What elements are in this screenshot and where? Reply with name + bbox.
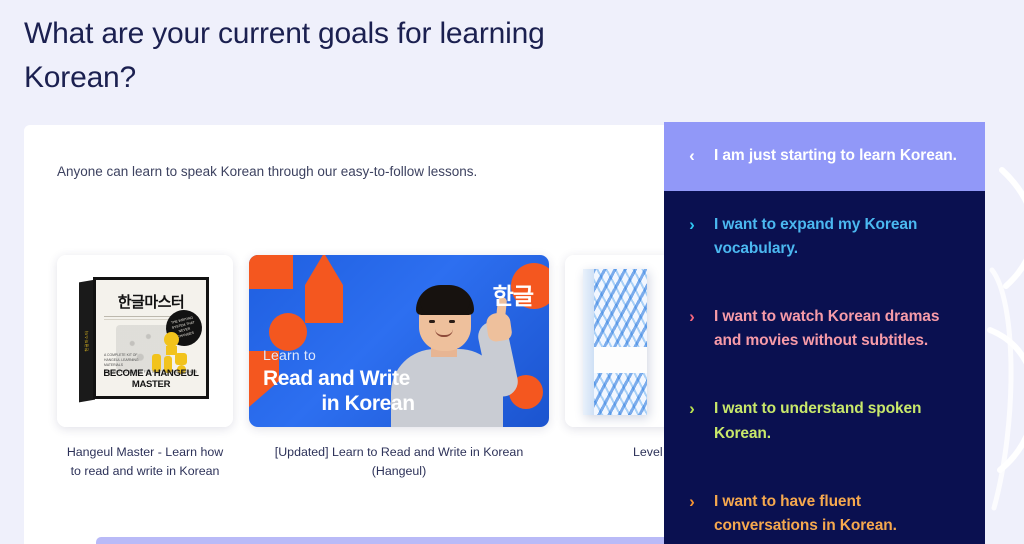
course-caption: Hangeul Master - Learn how to read and w… (57, 443, 233, 480)
book-english-title: BECOME A HANGEUL MASTER (96, 368, 206, 390)
video-title: Read and Write in Korean (263, 367, 453, 417)
goal-option[interactable]: ›I want to expand my Korean vocabulary. (664, 191, 985, 283)
course-item[interactable]: 한글마스터 한글마스터 THE WRITING SYSTEM THAT NEVE… (57, 255, 233, 480)
video-title-line2: in Korean (263, 392, 453, 417)
chevron-right-icon: › (686, 490, 698, 515)
chevron-right-icon: › (686, 305, 698, 330)
course-list: 한글마스터 한글마스터 THE WRITING SYSTEM THAT NEVE… (57, 255, 741, 480)
book-subtext: A COMPLETE KIT OF HANGEUL LEARNING MATER… (104, 353, 150, 368)
goal-option-label: I want to understand spoken Korean. (714, 397, 961, 445)
course-thumbnail-hangeul-master[interactable]: 한글마스터 한글마스터 THE WRITING SYSTEM THAT NEVE… (57, 255, 233, 427)
chevron-right-icon: › (686, 213, 698, 238)
goal-option[interactable]: ›I want to have fluent conversations in … (664, 468, 985, 544)
goal-option-label: I want to watch Korean dramas and movies… (714, 305, 961, 353)
goal-option-label: I want to have fluent conversations in K… (714, 490, 961, 538)
bottom-progress-bar[interactable] (96, 537, 684, 544)
course-thumbnail-read-write[interactable]: 한글 Learn to Read and Write in Korean (249, 255, 549, 427)
video-korean-text: 한글 (493, 277, 533, 311)
video-title-line1: Read and Write (263, 367, 410, 390)
chevron-right-icon: › (686, 397, 698, 422)
book-korean-title: 한글마스터 (96, 291, 206, 312)
goal-option[interactable]: ‹I am just starting to learn Korean. (664, 122, 985, 191)
goal-option-label: I am just starting to learn Korean. (714, 144, 957, 168)
intro-text: Anyone can learn to speak Korean through… (57, 160, 487, 184)
course-item[interactable]: 한글 Learn to Read and Write in Korean [Up… (249, 255, 549, 480)
goal-option[interactable]: ›I want to understand spoken Korean. (664, 375, 985, 467)
page-title: What are your current goals for learning… (24, 12, 644, 99)
course-caption: [Updated] Learn to Read and Write in Kor… (249, 443, 549, 480)
goal-options-panel: ‹I am just starting to learn Korean.›I w… (664, 122, 985, 544)
chevron-left-icon: ‹ (686, 144, 698, 169)
video-kicker: Learn to (263, 347, 316, 363)
book-cover: 한글마스터 THE WRITING SYSTEM THAT NEVER CHAN… (93, 277, 209, 399)
goal-option[interactable]: ›I want to watch Korean dramas and movie… (664, 283, 985, 375)
goal-option-label: I want to expand my Korean vocabulary. (714, 213, 961, 261)
